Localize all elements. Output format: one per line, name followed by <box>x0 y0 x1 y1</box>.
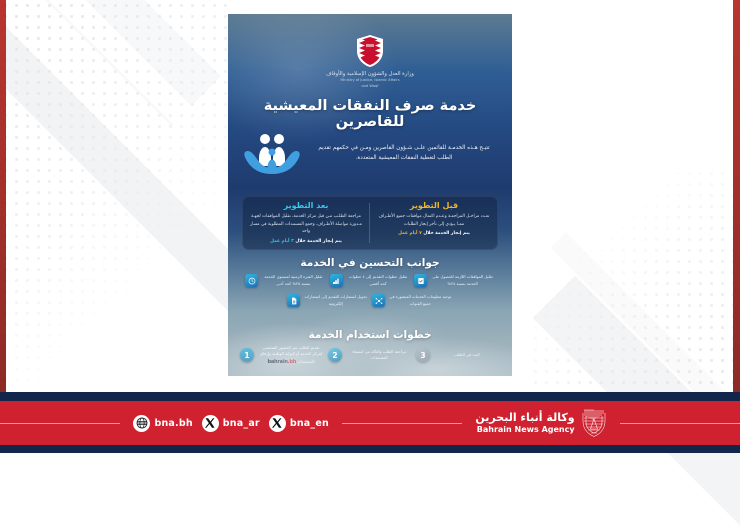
improvement-item: توحيد معلومات الخدمات المنشورة في جميع ا… <box>371 292 454 309</box>
social-label-website: bna.bh <box>154 418 192 429</box>
before-body: تعـدد مراحـل المراجعـة وعـدم اكتمال مواف… <box>377 213 491 228</box>
bna-name-en: Bahrain News Agency <box>475 425 574 435</box>
social-link-website[interactable]: bna.bh <box>133 415 192 432</box>
steps-heading: خطوات استخدام الخدمة <box>228 329 512 341</box>
bg-dot-pattern-left <box>0 0 230 390</box>
after-heading: بعد التطوير <box>249 201 363 210</box>
after-box: بعد التطوير مراجعة الطلـب مـن قبل مركز ا… <box>242 196 370 250</box>
bna-footer-banner: bna.bh bna_ar bna_en وكالة أنباء البحرين… <box>0 401 740 445</box>
footer-divider-line-right <box>620 423 740 424</box>
bahrain-bh-logo-main: bahrain <box>267 359 287 365</box>
x-twitter-icon <box>202 415 219 432</box>
steps-list: 1 تقديم الطلب عبر الحضور الشخصي لمركز ال… <box>240 345 500 366</box>
bahrain-bh-logo-accent: .bh <box>288 359 296 365</box>
clock-icon <box>245 274 258 287</box>
footer-divider-line-left <box>0 423 120 424</box>
after-duration-prefix: يتم إنجاز الخدمة خلال <box>295 239 342 244</box>
before-duration-prefix: يتم إنجاز الخدمة خلال <box>423 231 470 236</box>
improvements-list: تقليل الفترة الزمنية لمستوى الخدمة بنسبة… <box>240 272 500 309</box>
bna-name-ar: وكالة أنباء البحرين <box>475 412 574 425</box>
bg-dot-pattern-right <box>530 168 740 398</box>
x-twitter-icon <box>269 415 286 432</box>
social-link-x-english[interactable]: bna_en <box>269 415 329 432</box>
bahrain-bh-logo: bahrain.bh <box>267 359 296 365</box>
improvement-text: تقليل خطوات التقديم إلى ٤ خطوات كحد أقصى <box>346 274 411 286</box>
intro-section: تتيـح هـذه الخدمـة للقائمين علـى شـؤون ا… <box>242 130 498 176</box>
intro-text: تتيـح هـذه الخدمـة للقائمين علـى شـؤون ا… <box>310 143 498 164</box>
social-link-x-arabic[interactable]: bna_ar <box>202 415 260 432</box>
improvement-item: تقليل خطوات التقديم إلى ٤ خطوات كحد أقصى <box>329 272 412 289</box>
ministry-name-en-line1: Ministry of Justice, Islamic Affairs <box>228 78 512 83</box>
footer-navy-bar-top <box>0 392 740 401</box>
social-label-x-english: bna_en <box>290 418 329 429</box>
after-duration: يتم إنجاز الخدمة خلال ٣ أيام عمل <box>249 239 363 244</box>
bg-edge-accent-right <box>733 0 740 392</box>
bna-shield-icon <box>581 408 607 438</box>
improvement-item: تقليل الموافقات اللازمة للحصول على الخدم… <box>413 272 496 289</box>
after-body: مراجعة الطلـب مـن قبل مركز الخدمة، تقليل… <box>249 213 363 236</box>
improvements-heading: جوانب التحسين في الخدمة <box>228 257 512 269</box>
step-number: 1 <box>240 348 254 362</box>
bahrain-coat-of-arms-icon <box>355 34 385 68</box>
network-icon <box>372 294 385 307</box>
document-icon <box>287 294 300 307</box>
footer-divider-line-middle <box>342 423 462 424</box>
improvement-text: تقليل الفترة الزمنية لمستوى الخدمة بنسبة… <box>261 274 326 286</box>
steps-icon <box>330 274 343 287</box>
approval-icon <box>414 274 427 287</box>
before-duration: يتم إنجاز الخدمة خلال ٧ أيام عمل <box>377 231 491 236</box>
improvement-text: تقليل الموافقات اللازمة للحصول على الخدم… <box>430 274 495 286</box>
ministry-header: وزارة العدل والشؤون الإسلامية والأوقاف M… <box>228 34 512 89</box>
improvement-text: توحيد معلومات الخدمات المنشورة في جميع ا… <box>388 294 453 306</box>
step-number: 3 <box>416 348 430 362</box>
family-in-hands-icon <box>242 130 302 176</box>
before-box: قبل التطوير تعـدد مراحـل المراجعـة وعـدم… <box>370 196 498 250</box>
step-item: 1 تقديم الطلب عبر الحضور الشخصي لمركز ال… <box>240 345 324 366</box>
step-item: 3 البت في الطلب <box>416 345 500 366</box>
step-text: البت في الطلب <box>434 352 500 358</box>
poster-title: خدمة صرف النفقات المعيشية للقاصرين <box>240 98 500 130</box>
social-label-x-arabic: bna_ar <box>223 418 260 429</box>
service-infographic-poster: وزارة العدل والشؤون الإسلامية والأوقاف M… <box>228 14 512 376</box>
step-item: 2 مراجعة الطلب والتأكد من استيفاء المستن… <box>328 345 412 366</box>
step-text: مراجعة الطلب والتأكد من استيفاء المستندا… <box>346 349 412 362</box>
after-duration-value: ٣ أيام عمل <box>270 239 294 244</box>
step-number: 2 <box>328 348 342 362</box>
improvement-item: تقليل الفترة الزمنية لمستوى الخدمة بنسبة… <box>244 272 327 289</box>
bna-logo: وكالة أنباء البحرين Bahrain News Agency <box>462 408 619 438</box>
step-text-wrap: تقديم الطلب عبر الحضور الشخصي لمركز الخد… <box>258 345 324 366</box>
footer-navy-bar-bottom <box>0 445 740 453</box>
footer-social-links: bna.bh bna_ar bna_en <box>120 415 342 432</box>
globe-icon <box>133 415 150 432</box>
ministry-name-ar: وزارة العدل والشؤون الإسلامية والأوقاف <box>228 71 512 77</box>
before-heading: قبل التطوير <box>377 201 491 210</box>
improvement-text: تحويل استمارات التقديم إلى استمارات إلكت… <box>303 294 368 306</box>
ministry-name-en-line2: and Waqf <box>228 84 512 89</box>
bg-edge-accent-left <box>0 0 6 392</box>
before-duration-value: ٧ أيام عمل <box>398 231 422 236</box>
improvement-item: تحويل استمارات التقديم إلى استمارات إلكت… <box>286 292 369 309</box>
before-after-comparison: قبل التطوير تعـدد مراحـل المراجعـة وعـدم… <box>242 196 498 250</box>
